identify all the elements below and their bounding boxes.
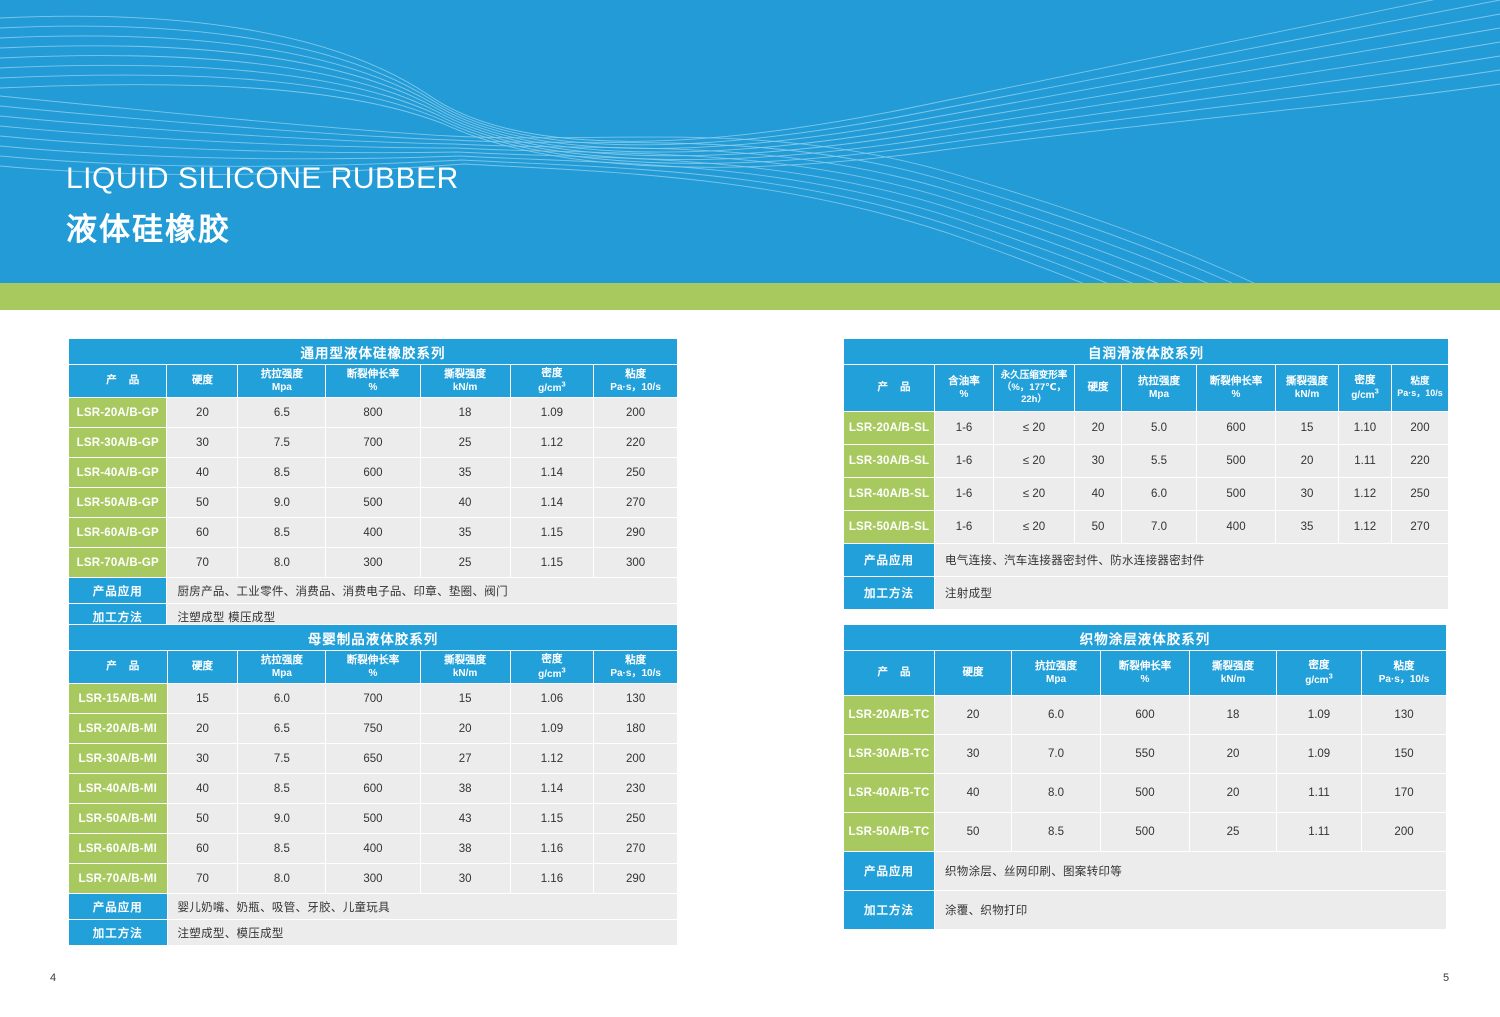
cell-density: 1.14 xyxy=(511,488,594,517)
cell-elongation: 800 xyxy=(326,398,419,427)
table-row: LSR-20A/B-MI 20 6.5 750 20 1.09 180 xyxy=(69,714,677,743)
cell-oil-content: 1-6 xyxy=(935,511,993,543)
cell-elongation: 600 xyxy=(1101,696,1189,734)
product-code: LSR-60A/B-GP xyxy=(69,518,166,547)
cell-density: 1.14 xyxy=(511,774,594,803)
cell-tear: 38 xyxy=(421,834,510,863)
cell-density: 1.12 xyxy=(511,744,594,773)
table-row: LSR-15A/B-MI 15 6.0 700 15 1.06 130 xyxy=(69,684,677,713)
cell-viscosity: 250 xyxy=(1392,478,1448,510)
table-row: LSR-50A/B-MI 50 9.0 500 43 1.15 250 xyxy=(69,804,677,833)
cell-hardness: 50 xyxy=(167,488,237,517)
processing-label: 加工方法 xyxy=(844,577,934,609)
cell-tensile: 8.0 xyxy=(1012,774,1100,812)
cell-tensile: 8.5 xyxy=(1012,813,1100,851)
cell-tensile: 7.5 xyxy=(238,744,325,773)
cell-hardness: 60 xyxy=(167,518,237,547)
processing-row: 加工方法 注塑成型、模压成型 xyxy=(69,920,677,945)
cell-viscosity: 230 xyxy=(594,774,677,803)
cell-tensile: 8.0 xyxy=(238,548,325,577)
table-row: LSR-20A/B-TC 20 6.0 600 18 1.09 130 xyxy=(844,696,1446,734)
cell-hardness: 40 xyxy=(1075,478,1121,510)
product-code: LSR-30A/B-GP xyxy=(69,428,166,457)
col-header-hardness: 硬度 xyxy=(1075,365,1121,411)
cell-tensile: 9.0 xyxy=(238,488,325,517)
cell-tear: 27 xyxy=(421,744,510,773)
cell-hardness: 50 xyxy=(168,804,238,833)
table-row: LSR-40A/B-SL 1-6 ≤ 20 40 6.0 500 30 1.12… xyxy=(844,478,1448,510)
cell-tensile: 8.0 xyxy=(238,864,325,893)
cell-hardness: 20 xyxy=(168,714,238,743)
processing-value: 注塑成型、模压成型 xyxy=(168,920,678,945)
product-code: LSR-70A/B-GP xyxy=(69,548,166,577)
processing-row: 加工方法 涂覆、织物打印 xyxy=(844,891,1446,929)
cell-viscosity: 270 xyxy=(1392,511,1448,543)
cell-tear: 25 xyxy=(1190,813,1276,851)
cell-density: 1.10 xyxy=(1339,412,1391,444)
application-row: 产品应用 织物涂层、丝网印刷、图案转印等 xyxy=(844,852,1446,890)
col-header-compression-set: 永久压缩变形率（%，177℃，22h） xyxy=(994,365,1074,411)
cell-hardness: 20 xyxy=(1075,412,1121,444)
col-header-hardness: 硬度 xyxy=(168,651,238,683)
cell-elongation: 300 xyxy=(326,864,419,893)
cell-elongation: 300 xyxy=(326,548,419,577)
product-code: LSR-50A/B-GP xyxy=(69,488,166,517)
cell-elongation: 400 xyxy=(326,518,419,547)
col-header-elongation: 断裂伸长率% xyxy=(1101,651,1189,695)
cell-tensile: 6.0 xyxy=(1012,696,1100,734)
col-header-tensile: 抗拉强度Mpa xyxy=(238,651,325,683)
cell-hardness: 15 xyxy=(168,684,238,713)
cell-hardness: 40 xyxy=(167,458,237,487)
product-code: LSR-40A/B-GP xyxy=(69,458,166,487)
table-row: LSR-60A/B-MI 60 8.5 400 38 1.16 270 xyxy=(69,834,677,863)
product-code: LSR-15A/B-MI xyxy=(69,684,167,713)
cell-tensile: 8.5 xyxy=(238,518,325,547)
col-header-elongation: 断裂伸长率% xyxy=(326,365,419,397)
cell-elongation: 600 xyxy=(326,458,419,487)
cell-tensile: 9.0 xyxy=(238,804,325,833)
product-code: LSR-20A/B-MI xyxy=(69,714,167,743)
cell-tensile: 8.5 xyxy=(238,458,325,487)
col-header-viscosity: 粘度Pa·s，10/s xyxy=(1362,651,1446,695)
cell-hardness: 20 xyxy=(935,696,1011,734)
table-row: LSR-30A/B-TC 30 7.0 550 20 1.09 150 xyxy=(844,735,1446,773)
cell-elongation: 500 xyxy=(1101,774,1189,812)
page-number-left: 4 xyxy=(50,972,56,984)
cell-hardness: 70 xyxy=(168,864,238,893)
cell-viscosity: 250 xyxy=(594,458,677,487)
col-header-hardness: 硬度 xyxy=(167,365,237,397)
cell-density: 1.14 xyxy=(511,458,594,487)
cell-viscosity: 220 xyxy=(594,428,677,457)
cell-elongation: 400 xyxy=(326,834,419,863)
processing-value: 注射成型 xyxy=(935,577,1448,609)
cell-tear: 35 xyxy=(1276,511,1338,543)
cell-elongation: 400 xyxy=(1197,511,1275,543)
col-header-elongation: 断裂伸长率% xyxy=(1197,365,1275,411)
cell-elongation: 600 xyxy=(326,774,419,803)
col-header-tear: 撕裂强度kN/m xyxy=(421,651,510,683)
cell-tensile: 7.0 xyxy=(1122,511,1196,543)
cell-elongation: 500 xyxy=(1101,813,1189,851)
table-row: LSR-40A/B-MI 40 8.5 600 38 1.14 230 xyxy=(69,774,677,803)
cell-elongation: 500 xyxy=(326,804,419,833)
col-header-viscosity: 粘度Pa·s，10/s xyxy=(594,365,677,397)
table-row: LSR-50A/B-SL 1-6 ≤ 20 50 7.0 400 35 1.12… xyxy=(844,511,1448,543)
cell-tear: 35 xyxy=(421,458,510,487)
application-label: 产品应用 xyxy=(844,852,934,890)
banner-title-chinese: 液体硅橡胶 xyxy=(66,204,231,249)
table-row: LSR-60A/B-GP 60 8.5 400 35 1.15 290 xyxy=(69,518,677,547)
table-row: LSR-40A/B-TC 40 8.0 500 20 1.11 170 xyxy=(844,774,1446,812)
cell-compression-set: ≤ 20 xyxy=(994,478,1074,510)
cell-tear: 38 xyxy=(421,774,510,803)
table-mother-infant: 母婴制品液体胶系列 产品 硬度 抗拉强度Mpa 断裂伸长率% 撕裂强度kN/m … xyxy=(68,624,678,946)
cell-oil-content: 1-6 xyxy=(935,445,993,477)
cell-viscosity: 130 xyxy=(594,684,677,713)
cell-elongation: 500 xyxy=(1197,478,1275,510)
cell-density: 1.12 xyxy=(1339,511,1391,543)
application-value: 厨房产品、工业零件、消费品、消费电子品、印章、垫圈、阀门 xyxy=(167,578,677,603)
col-header-viscosity: 粘度Pa·s，10/s xyxy=(1392,365,1448,411)
cell-hardness: 70 xyxy=(167,548,237,577)
cell-elongation: 500 xyxy=(326,488,419,517)
product-code: LSR-70A/B-MI xyxy=(69,864,167,893)
table-row: LSR-50A/B-GP 50 9.0 500 40 1.14 270 xyxy=(69,488,677,517)
application-label: 产品应用 xyxy=(69,894,167,919)
table-row: LSR-50A/B-TC 50 8.5 500 25 1.11 200 xyxy=(844,813,1446,851)
table-title: 织物涂层液体胶系列 xyxy=(844,625,1446,650)
cell-compression-set: ≤ 20 xyxy=(994,511,1074,543)
cell-hardness: 20 xyxy=(167,398,237,427)
cell-density: 1.11 xyxy=(1277,813,1361,851)
col-header-product: 产品 xyxy=(69,651,167,683)
cell-hardness: 30 xyxy=(935,735,1011,773)
cell-density: 1.15 xyxy=(511,804,594,833)
cell-density: 1.06 xyxy=(511,684,594,713)
cell-tear: 25 xyxy=(421,428,510,457)
col-header-density: 密度g/cm3 xyxy=(511,651,594,683)
product-code: LSR-50A/B-SL xyxy=(844,511,934,543)
col-header-product: 产品 xyxy=(844,365,934,411)
cell-viscosity: 150 xyxy=(1362,735,1446,773)
cell-viscosity: 250 xyxy=(594,804,677,833)
col-header-product: 产品 xyxy=(69,365,166,397)
col-header-tensile: 抗拉强度Mpa xyxy=(1012,651,1100,695)
application-value: 织物涂层、丝网印刷、图案转印等 xyxy=(935,852,1446,890)
cell-viscosity: 200 xyxy=(1362,813,1446,851)
cell-density: 1.09 xyxy=(1277,735,1361,773)
product-code: LSR-50A/B-TC xyxy=(844,813,934,851)
col-header-tear: 撕裂强度kN/m xyxy=(1190,651,1276,695)
table-row: LSR-30A/B-SL 1-6 ≤ 20 30 5.5 500 20 1.11… xyxy=(844,445,1448,477)
cell-viscosity: 270 xyxy=(594,834,677,863)
col-header-density: 密度g/cm3 xyxy=(1339,365,1391,411)
col-header-density: 密度g/cm3 xyxy=(511,365,594,397)
table-textile-coating: 织物涂层液体胶系列 产品 硬度 抗拉强度Mpa 断裂伸长率% 撕裂强度kN/m … xyxy=(843,624,1447,930)
cell-elongation: 750 xyxy=(326,714,419,743)
cell-tear: 35 xyxy=(421,518,510,547)
cell-hardness: 30 xyxy=(1075,445,1121,477)
green-accent-strip xyxy=(0,283,1500,310)
col-header-density: 密度g/cm3 xyxy=(1277,651,1361,695)
cell-viscosity: 170 xyxy=(1362,774,1446,812)
application-value: 婴儿奶嘴、奶瓶、吸管、牙胶、儿童玩具 xyxy=(168,894,678,919)
cell-tear: 20 xyxy=(421,714,510,743)
col-header-tensile: 抗拉强度Mpa xyxy=(1122,365,1196,411)
cell-elongation: 550 xyxy=(1101,735,1189,773)
processing-row: 加工方法 注射成型 xyxy=(844,577,1448,609)
cell-tear: 40 xyxy=(421,488,510,517)
product-code: LSR-30A/B-MI xyxy=(69,744,167,773)
application-row: 产品应用 厨房产品、工业零件、消费品、消费电子品、印章、垫圈、阀门 xyxy=(69,578,677,603)
cell-viscosity: 180 xyxy=(594,714,677,743)
cell-oil-content: 1-6 xyxy=(935,478,993,510)
cell-elongation: 650 xyxy=(326,744,419,773)
table-general-purpose: 通用型液体硅橡胶系列 产品 硬度 抗拉强度Mpa 断裂伸长率% 撕裂强度kN/m… xyxy=(68,338,678,630)
cell-tensile: 5.5 xyxy=(1122,445,1196,477)
cell-hardness: 30 xyxy=(167,428,237,457)
cell-viscosity: 130 xyxy=(1362,696,1446,734)
cell-hardness: 60 xyxy=(168,834,238,863)
cell-viscosity: 200 xyxy=(594,398,677,427)
cell-tear: 20 xyxy=(1190,774,1276,812)
page-number-right: 5 xyxy=(1443,972,1449,984)
col-header-hardness: 硬度 xyxy=(935,651,1011,695)
cell-tensile: 6.0 xyxy=(238,684,325,713)
cell-viscosity: 220 xyxy=(1392,445,1448,477)
cell-density: 1.16 xyxy=(511,864,594,893)
cell-viscosity: 300 xyxy=(594,548,677,577)
cell-tear: 20 xyxy=(1190,735,1276,773)
col-header-viscosity: 粘度Pa·s，10/s xyxy=(594,651,677,683)
processing-value: 涂覆、织物打印 xyxy=(935,891,1446,929)
col-header-tensile: 抗拉强度Mpa xyxy=(238,365,325,397)
cell-viscosity: 200 xyxy=(1392,412,1448,444)
cell-density: 1.11 xyxy=(1277,774,1361,812)
processing-label: 加工方法 xyxy=(69,920,167,945)
application-label: 产品应用 xyxy=(69,578,166,603)
product-code: LSR-30A/B-TC xyxy=(844,735,934,773)
cell-viscosity: 200 xyxy=(594,744,677,773)
processing-label: 加工方法 xyxy=(844,891,934,929)
cell-tear: 30 xyxy=(1276,478,1338,510)
banner-title-english: LIQUID SILICONE RUBBER xyxy=(66,162,459,196)
cell-density: 1.11 xyxy=(1339,445,1391,477)
cell-tear: 25 xyxy=(421,548,510,577)
col-header-oil-content: 含油率% xyxy=(935,365,993,411)
cell-tear: 20 xyxy=(1276,445,1338,477)
table-row: LSR-70A/B-MI 70 8.0 300 30 1.16 290 xyxy=(69,864,677,893)
table-title: 母婴制品液体胶系列 xyxy=(69,625,677,650)
cell-elongation: 700 xyxy=(326,684,419,713)
product-code: LSR-40A/B-TC xyxy=(844,774,934,812)
cell-density: 1.15 xyxy=(511,518,594,547)
table-row: LSR-20A/B-SL 1-6 ≤ 20 20 5.0 600 15 1.10… xyxy=(844,412,1448,444)
cell-oil-content: 1-6 xyxy=(935,412,993,444)
application-row: 产品应用 电气连接、汽车连接器密封件、防水连接器密封件 xyxy=(844,544,1448,576)
table-title: 自润滑液体胶系列 xyxy=(844,339,1448,364)
cell-density: 1.15 xyxy=(511,548,594,577)
col-header-product: 产品 xyxy=(844,651,934,695)
cell-hardness: 30 xyxy=(168,744,238,773)
cell-density: 1.16 xyxy=(511,834,594,863)
cell-tear: 43 xyxy=(421,804,510,833)
table-self-lubricating: 自润滑液体胶系列 产品 含油率% 永久压缩变形率（%，177℃，22h） 硬度 … xyxy=(843,338,1449,610)
cell-tensile: 5.0 xyxy=(1122,412,1196,444)
product-code: LSR-50A/B-MI xyxy=(69,804,167,833)
product-code: LSR-30A/B-SL xyxy=(844,445,934,477)
table-row: LSR-30A/B-MI 30 7.5 650 27 1.12 200 xyxy=(69,744,677,773)
table-row: LSR-20A/B-GP 20 6.5 800 18 1.09 200 xyxy=(69,398,677,427)
cell-tear: 18 xyxy=(1190,696,1276,734)
col-header-tear: 撕裂强度kN/m xyxy=(421,365,510,397)
product-code: LSR-20A/B-SL xyxy=(844,412,934,444)
col-header-tear: 撕裂强度kN/m xyxy=(1276,365,1338,411)
cell-tensile: 8.5 xyxy=(238,834,325,863)
cell-hardness: 40 xyxy=(168,774,238,803)
cell-hardness: 40 xyxy=(935,774,1011,812)
cell-tensile: 6.0 xyxy=(1122,478,1196,510)
product-code: LSR-40A/B-MI xyxy=(69,774,167,803)
cell-viscosity: 290 xyxy=(594,864,677,893)
cell-viscosity: 270 xyxy=(594,488,677,517)
table-row: LSR-70A/B-GP 70 8.0 300 25 1.15 300 xyxy=(69,548,677,577)
cell-elongation: 500 xyxy=(1197,445,1275,477)
page-banner: LIQUID SILICONE RUBBER 液体硅橡胶 xyxy=(0,0,1500,283)
application-row: 产品应用 婴儿奶嘴、奶瓶、吸管、牙胶、儿童玩具 xyxy=(69,894,677,919)
col-header-elongation: 断裂伸长率% xyxy=(326,651,419,683)
cell-elongation: 700 xyxy=(326,428,419,457)
cell-tear: 18 xyxy=(421,398,510,427)
table-row: LSR-40A/B-GP 40 8.5 600 35 1.14 250 xyxy=(69,458,677,487)
cell-density: 1.09 xyxy=(511,398,594,427)
cell-hardness: 50 xyxy=(935,813,1011,851)
cell-viscosity: 290 xyxy=(594,518,677,547)
application-value: 电气连接、汽车连接器密封件、防水连接器密封件 xyxy=(935,544,1448,576)
product-code: LSR-20A/B-GP xyxy=(69,398,166,427)
cell-tensile: 8.5 xyxy=(238,774,325,803)
cell-tear: 30 xyxy=(421,864,510,893)
cell-elongation: 600 xyxy=(1197,412,1275,444)
cell-density: 1.12 xyxy=(1339,478,1391,510)
table-row: LSR-30A/B-GP 30 7.5 700 25 1.12 220 xyxy=(69,428,677,457)
table-title: 通用型液体硅橡胶系列 xyxy=(69,339,677,364)
cell-compression-set: ≤ 20 xyxy=(994,412,1074,444)
product-code: LSR-20A/B-TC xyxy=(844,696,934,734)
cell-tensile: 6.5 xyxy=(238,714,325,743)
cell-tensile: 6.5 xyxy=(238,398,325,427)
cell-tear: 15 xyxy=(421,684,510,713)
cell-tensile: 7.0 xyxy=(1012,735,1100,773)
cell-hardness: 50 xyxy=(1075,511,1121,543)
application-label: 产品应用 xyxy=(844,544,934,576)
cell-compression-set: ≤ 20 xyxy=(994,445,1074,477)
cell-tear: 15 xyxy=(1276,412,1338,444)
cell-density: 1.12 xyxy=(511,428,594,457)
product-code: LSR-60A/B-MI xyxy=(69,834,167,863)
cell-density: 1.09 xyxy=(511,714,594,743)
product-code: LSR-40A/B-SL xyxy=(844,478,934,510)
cell-tensile: 7.5 xyxy=(238,428,325,457)
cell-density: 1.09 xyxy=(1277,696,1361,734)
